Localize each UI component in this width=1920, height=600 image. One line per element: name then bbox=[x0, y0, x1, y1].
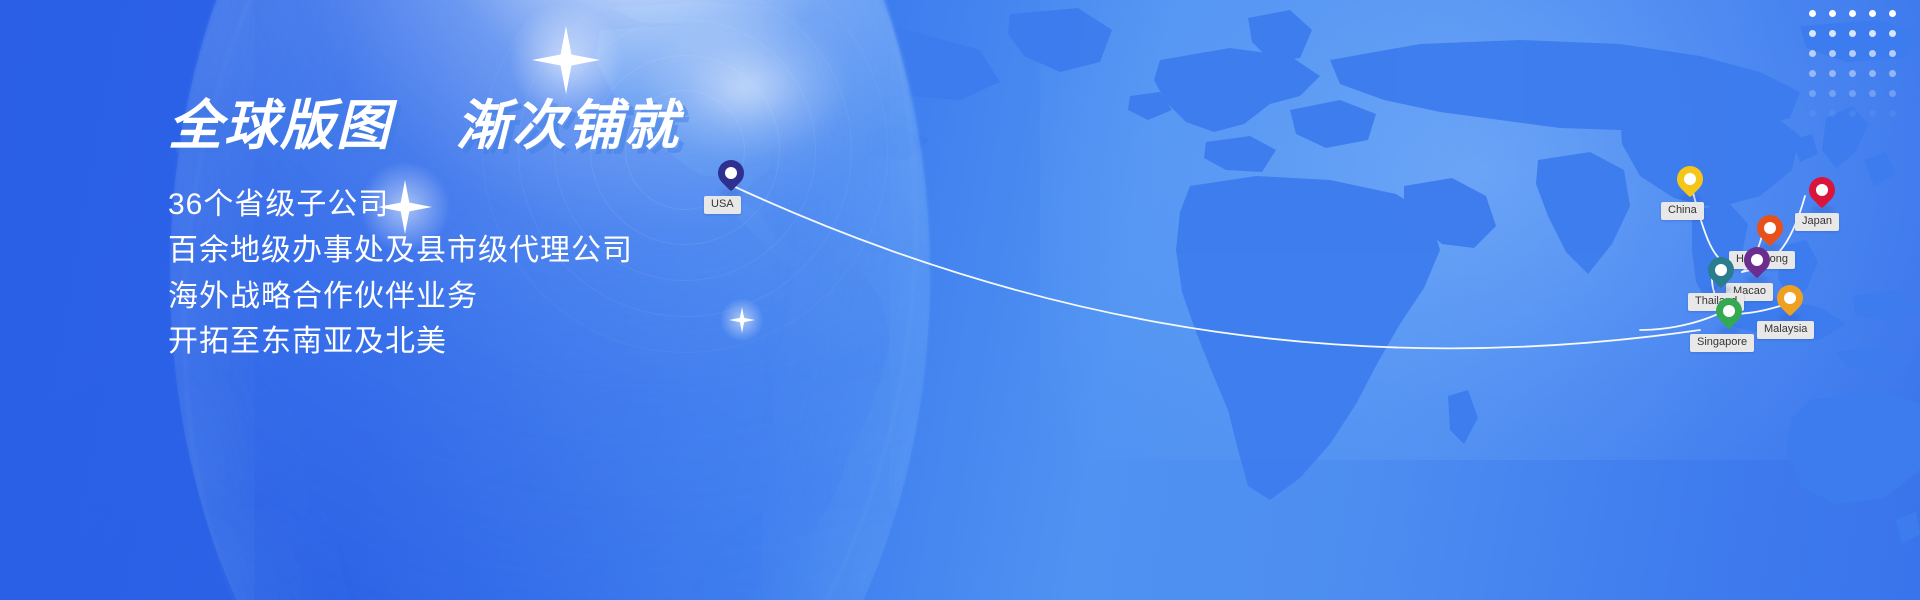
marker-label: Malaysia bbox=[1757, 321, 1814, 339]
pin-core-dot bbox=[1715, 264, 1727, 276]
location-pin-icon[interactable] bbox=[1677, 166, 1703, 200]
marker-label: Japan bbox=[1795, 213, 1839, 231]
pin-core-dot bbox=[1816, 184, 1828, 196]
connection-arcs bbox=[0, 0, 1920, 600]
pin-core-dot bbox=[1764, 222, 1776, 234]
pin-core-dot bbox=[1684, 173, 1696, 185]
location-pin-icon[interactable] bbox=[1716, 298, 1742, 332]
location-pin-icon[interactable] bbox=[1708, 257, 1734, 291]
location-pin-icon[interactable] bbox=[1809, 177, 1835, 211]
pin-core-dot bbox=[1784, 292, 1796, 304]
pin-core-dot bbox=[1751, 254, 1763, 266]
global-footprint-banner: 全球版图 渐次铺就 36个省级子公司百余地级办事处及县市级代理公司海外战略合作伙… bbox=[0, 0, 1920, 600]
location-pin-icon[interactable] bbox=[1777, 285, 1803, 319]
location-pin-icon[interactable] bbox=[1757, 215, 1783, 249]
marker-label: China bbox=[1661, 202, 1704, 220]
pin-core-dot bbox=[725, 167, 737, 179]
marker-label: Singapore bbox=[1690, 334, 1754, 352]
pin-core-dot bbox=[1723, 305, 1735, 317]
marker-label: USA bbox=[704, 196, 741, 214]
location-pin-icon[interactable] bbox=[1744, 247, 1770, 281]
location-pin-icon[interactable] bbox=[718, 160, 744, 194]
